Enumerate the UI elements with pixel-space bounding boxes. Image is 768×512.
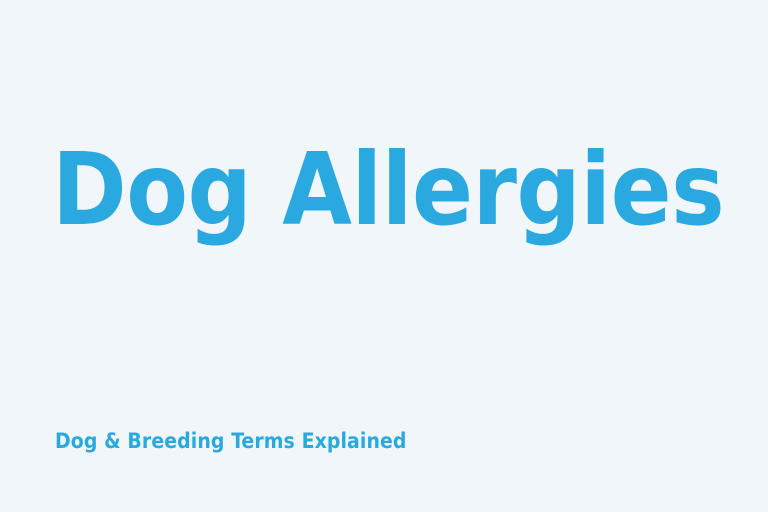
page-subtitle: Dog & Breeding Terms Explained (55, 429, 407, 454)
title-slide: Dog Allergies Dog & Breeding Terms Expla… (0, 0, 768, 512)
page-title: Dog Allergies (52, 140, 724, 240)
